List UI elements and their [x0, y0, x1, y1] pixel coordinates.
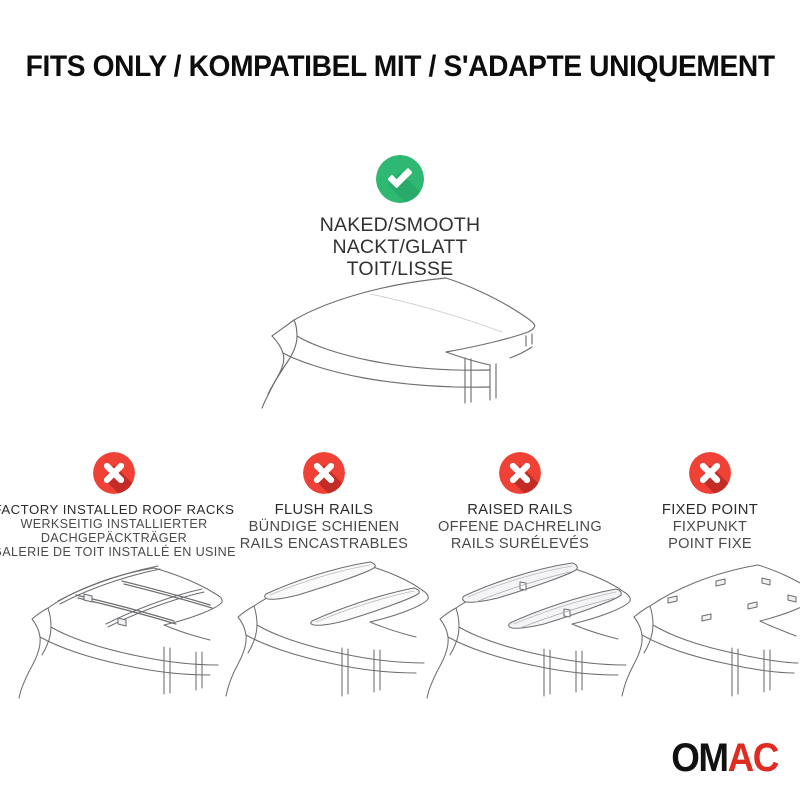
x-circle-icon — [689, 452, 731, 494]
omac-logo-red-part: AC — [728, 738, 778, 778]
incompatible-label-line-2: OFFENE DACHRELING — [438, 519, 602, 536]
incompatible-label-stack: RAISED RAILS OFFENE DACHRELING RAILS SUR… — [438, 502, 602, 554]
page-title-text: FITS ONLY / KOMPATIBEL MIT / S'ADAPTE UN… — [25, 50, 774, 84]
incompatible-label-line-2: BÜNDIGE SCHIENEN — [240, 519, 408, 536]
incompatible-label-stack: FLUSH RAILS BÜNDIGE SCHIENEN RAILS ENCAS… — [240, 502, 408, 554]
compatible-label-line-2: NACKT/GLATT — [320, 236, 481, 258]
incompatible-label-line-2: WERKSEITIG INSTALLIERTER — [0, 517, 236, 531]
incompatible-illustration-row — [0, 548, 800, 708]
incompatible-section: FACTORY INSTALLED ROOF RACKS WERKSEITIG … — [0, 452, 800, 560]
x-circle-icon — [93, 452, 135, 494]
raised-rails-illustration — [424, 548, 632, 706]
incompatible-item-flush-rails: FLUSH RAILS BÜNDIGE SCHIENEN RAILS ENCAS… — [228, 452, 420, 560]
factory-roof-rack-illustration — [14, 548, 230, 706]
x-circle-icon — [499, 452, 541, 494]
incompatible-label-stack: FIXED POINT FIXPUNKT POINT FIXE — [662, 502, 758, 554]
incompatible-label-line-1: FLUSH RAILS — [240, 502, 408, 519]
incompatible-label-line-1: RAISED RAILS — [438, 502, 602, 519]
fitment-compatibility-graphic: FITS ONLY / KOMPATIBEL MIT / S'ADAPTE UN… — [0, 0, 800, 800]
incompatible-item-fixed-point: FIXED POINT FIXPUNKT POINT FIXE — [620, 452, 800, 560]
incompatible-label-line-3: DACHGEPÄCKTRÄGER — [0, 531, 236, 545]
incompatible-item-raised-rails: RAISED RAILS OFFENE DACHRELING RAILS SUR… — [420, 452, 620, 560]
flush-rails-illustration — [224, 548, 430, 706]
incompatible-label-line-1: FACTORY INSTALLED ROOF RACKS — [0, 502, 236, 517]
omac-logo: OMAC — [671, 738, 778, 778]
x-circle-icon — [303, 452, 345, 494]
fixed-point-illustration — [620, 548, 800, 706]
smooth-roof-illustration — [250, 272, 580, 417]
incompatible-item-factory-roof-racks: FACTORY INSTALLED ROOF RACKS WERKSEITIG … — [0, 452, 228, 560]
compatible-section: NAKED/SMOOTH NACKT/GLATT TOIT/LISSE — [0, 155, 800, 280]
page-title: FITS ONLY / KOMPATIBEL MIT / S'ADAPTE UN… — [0, 50, 800, 84]
compatible-label-stack: NAKED/SMOOTH NACKT/GLATT TOIT/LISSE — [320, 214, 481, 280]
omac-logo-dark-part: OM — [671, 738, 727, 778]
incompatible-label-line-2: FIXPUNKT — [662, 519, 758, 536]
compatible-label-line-1: NAKED/SMOOTH — [320, 214, 481, 236]
incompatible-label-line-1: FIXED POINT — [662, 502, 758, 519]
check-circle-icon — [376, 155, 424, 203]
